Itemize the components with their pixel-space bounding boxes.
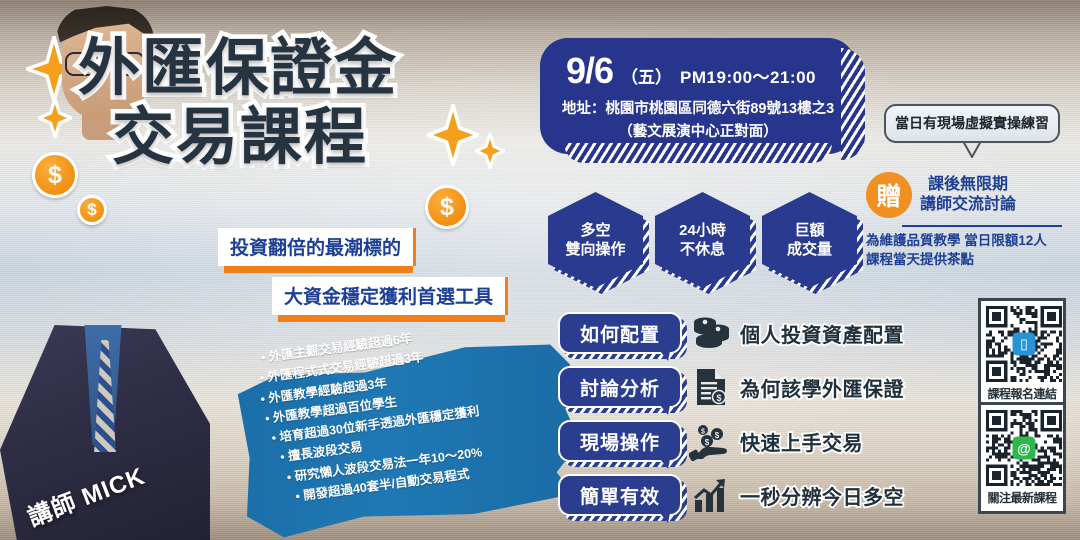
event-address-line-2: （藝文展演中心正對面）	[556, 120, 840, 141]
feature-label: 簡單有效	[558, 474, 682, 516]
instructor-bio-panel: 外匯主觀交易經驗超過6年 外匯程式式交易經驗超過3年 外匯教學經驗超過3年 外匯…	[238, 352, 578, 522]
feature-description: 個人投資資產配置	[740, 319, 904, 348]
event-datetime-row: 9/6 （五） PM19:00～21:00	[556, 50, 840, 92]
tagline-1-underline	[224, 266, 413, 273]
feature-hexagons: 多空 雙向操作 24小時 不休息 巨額 成交量	[548, 192, 858, 288]
gift-note-1: 為維護品質教學 當日限額12人	[866, 232, 1074, 251]
event-date-card: 9/6 （五） PM19:00～21:00 地址：桃園市桃園區同德六街89號13…	[540, 38, 856, 154]
sparkle-icon	[38, 98, 72, 138]
tagline-2-text: 大資金穩定獲利首選工具	[272, 277, 505, 315]
hexagon-badge: 巨額 成交量	[762, 192, 857, 288]
feature-label-bubble: 現場操作	[558, 420, 682, 462]
practice-callout: 當日有現場虛擬實操練習	[884, 104, 1060, 143]
feature-label: 如何配置	[558, 312, 682, 354]
qr-code-label: 課程報名連結	[986, 385, 1058, 402]
gift-text: 課後無限期 講師交流討論	[920, 175, 1016, 215]
gift-badge: 贈	[866, 172, 912, 218]
document-dollar-icon: $	[682, 368, 740, 406]
svg-text:$: $	[701, 429, 705, 436]
line-at-icon: @	[1013, 437, 1036, 460]
divider	[902, 225, 1062, 227]
tagline-1: 投資翻倍的最潮標的	[218, 228, 413, 273]
feature-label: 討論分析	[558, 366, 682, 408]
feature-label-bubble: 簡單有效	[558, 474, 682, 516]
hexagon-badge: 多空 雙向操作	[548, 192, 643, 288]
event-weekday: （五）	[621, 63, 672, 88]
tagline-1-text: 投資翻倍的最潮標的	[218, 228, 413, 266]
feature-label-bubble: 討論分析	[558, 366, 682, 408]
bio-list: 外匯主觀交易經驗超過6年 外匯程式式交易經驗超過3年 外匯教學經驗超過3年 外匯…	[246, 321, 489, 511]
title-line-2: 交易課程	[112, 103, 498, 172]
gift-line-1: 課後無限期	[920, 175, 1016, 195]
event-time: PM19:00～21:00	[680, 63, 816, 88]
coin-icon: $	[425, 185, 469, 229]
feature-description: 快速上手交易	[740, 427, 863, 456]
feature-row: 現場操作 $ $ $ 快速上手交易	[558, 416, 978, 466]
svg-text:$: $	[716, 393, 721, 403]
coin-icon: $	[32, 152, 78, 198]
callout-tail-icon	[963, 141, 981, 158]
feature-row: 討論分析 $ 為何該學外匯保證	[558, 362, 978, 412]
gift-row: 贈 課後無限期 講師交流討論	[866, 172, 1074, 218]
gift-line-2: 講師交流討論	[920, 195, 1016, 215]
hexagon-line-1: 巨額	[794, 221, 824, 241]
event-address-line-1: 地址：桃園市桃園區同德六街89號13樓之3	[556, 97, 840, 118]
feature-row: 如何配置 個人投資資產配置	[558, 308, 978, 358]
qr-code-image: @	[986, 410, 1062, 486]
practice-callout-text: 當日有現場虛擬實操練習	[890, 113, 1054, 133]
feature-label-bubble: 如何配置	[558, 312, 682, 354]
svg-text:$: $	[715, 431, 720, 440]
hexagon-line-2: 不休息	[680, 240, 725, 260]
poster-title: 外匯保證金 交易課程	[78, 34, 498, 173]
hexagon-line-1: 24小時	[679, 221, 726, 241]
hand-coins-icon: $ $ $	[682, 421, 740, 461]
tagline-2: 大資金穩定獲利首選工具	[272, 277, 505, 322]
gift-notes: 為維護品質教學 當日限額12人 課程當天提供茶點	[866, 232, 1074, 270]
hexagon-line-2: 成交量	[787, 240, 832, 260]
coin-stack-icon	[682, 315, 740, 351]
event-date: 9/6	[566, 50, 613, 92]
hexagon-line-2: 雙向操作	[565, 240, 625, 260]
growth-chart-icon	[682, 476, 740, 514]
gift-offer-block: 贈 課後無限期 講師交流討論 為維護品質教學 當日限額12人 課程當天提供茶點	[866, 172, 1074, 270]
qr-code-image: ▯	[986, 306, 1062, 382]
qr-code-card-follow[interactable]: @ 關注最新課程	[978, 402, 1066, 514]
hexagon-line-1: 多空	[580, 221, 610, 241]
door-book-icon: ▯	[1013, 333, 1036, 356]
feature-description: 為何該學外匯保證	[740, 373, 904, 402]
feature-description: 一秒分辨今日多空	[740, 481, 904, 510]
tagline-2-underline	[278, 315, 505, 322]
course-features-list: 如何配置 個人投資資產配置 討論分析	[558, 308, 978, 524]
coin-icon: $	[77, 195, 107, 225]
gift-note-2: 課程當天提供茶點	[866, 251, 1074, 270]
feature-row: 簡單有效 一秒分辨今日多空	[558, 470, 978, 520]
svg-text:$: $	[705, 438, 710, 447]
title-line-1: 外匯保證金	[78, 34, 498, 103]
qr-code-card-signup[interactable]: ▯ 課程報名連結	[978, 298, 1066, 410]
feature-label: 現場操作	[558, 420, 682, 462]
qr-code-label: 關注最新課程	[986, 489, 1058, 506]
hexagon-badge: 24小時 不休息	[655, 192, 750, 288]
